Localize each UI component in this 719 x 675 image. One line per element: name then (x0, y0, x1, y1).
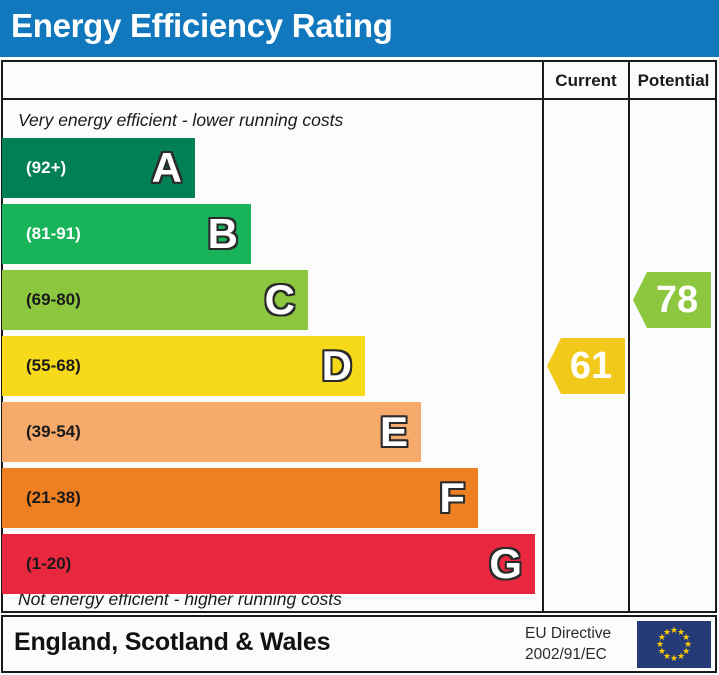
caption-very-efficient: Very energy efficient - lower running co… (18, 110, 343, 131)
rating-value-current: 61 (560, 347, 612, 385)
column-divider-potential (628, 60, 630, 613)
rating-arrow-current: 61 (547, 338, 625, 394)
band-range-label: (55-68) (26, 356, 81, 376)
band-letter-label: B (208, 213, 238, 255)
eu-flag-icon: ★★★★★★★★★★★★ (637, 621, 711, 668)
rating-band-b: (81-91)B (2, 204, 251, 264)
eu-directive-line-2: 2002/91/EC (525, 645, 611, 666)
rating-band-g: (1-20)G (2, 534, 535, 594)
band-letter-label: G (489, 543, 522, 585)
rating-band-d: (55-68)D (2, 336, 365, 396)
rating-arrow-potential: 78 (633, 272, 711, 328)
rating-band-f: (21-38)F (2, 468, 478, 528)
band-range-label: (1-20) (26, 554, 71, 574)
energy-efficiency-rating-certificate: Energy Efficiency Rating Current Potenti… (0, 0, 719, 675)
rating-value-potential: 78 (646, 281, 698, 319)
title-bar: Energy Efficiency Rating (0, 0, 719, 57)
band-letter-label: F (439, 477, 465, 519)
column-header-potential: Potential (630, 71, 717, 91)
band-letter-label: A (152, 147, 182, 189)
page-title: Energy Efficiency Rating (11, 7, 393, 45)
rating-band-c: (69-80)C (2, 270, 308, 330)
band-letter-label: D (322, 345, 352, 387)
footer-region-label: England, Scotland & Wales (14, 628, 330, 657)
column-header-current: Current (544, 71, 628, 91)
band-range-label: (69-80) (26, 290, 81, 310)
band-letter-label: C (265, 279, 295, 321)
band-range-label: (21-38) (26, 488, 81, 508)
eu-flag-star: ★ (663, 628, 672, 637)
rating-band-e: (39-54)E (2, 402, 421, 462)
band-letter-label: E (380, 411, 408, 453)
column-divider-current (542, 60, 544, 613)
header-row-separator (1, 98, 717, 100)
rating-band-a: (92+)A (2, 138, 195, 198)
footer-eu-directive: EU Directive 2002/91/EC (525, 624, 611, 666)
band-range-label: (81-91) (26, 224, 81, 244)
band-range-label: (39-54) (26, 422, 81, 442)
band-range-label: (92+) (26, 158, 66, 178)
eu-directive-line-1: EU Directive (525, 624, 611, 645)
